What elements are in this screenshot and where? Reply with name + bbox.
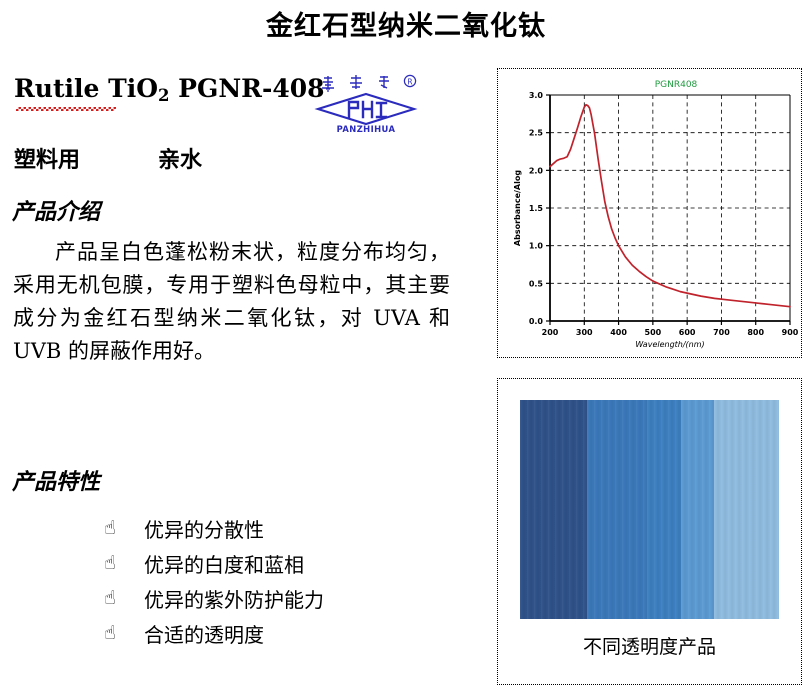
y-tick-label: 1.0 [529, 242, 544, 251]
y-tick-label: 1.5 [529, 204, 544, 213]
y-tick-label: 0.0 [529, 317, 544, 326]
feature-label: 合适的透明度 [144, 619, 264, 648]
product-intro-heading: 产品介绍 [12, 194, 100, 226]
y-tick-label: 2.5 [529, 129, 544, 138]
x-tick-label: 800 [747, 328, 764, 337]
product-code-row: Rutile TiO2 PGNR-408 [14, 74, 464, 136]
svg-text:R: R [407, 77, 412, 86]
x-tick-label: 300 [576, 328, 593, 337]
sample-band-2 [587, 400, 647, 619]
panzhihua-logo: R PANZHIHUA [314, 72, 422, 134]
diamond-emblem [318, 94, 414, 124]
spectrum-curve [550, 105, 790, 307]
sample-transparency-image [520, 400, 779, 619]
list-item: ☝ 合适的透明度 [104, 616, 464, 651]
list-item: ☝ 优异的分散性 [104, 511, 464, 546]
sample-band-3 [647, 400, 681, 619]
page-title: 金红石型纳米二氧化钛 [0, 4, 812, 43]
x-tick-label: 700 [713, 328, 730, 337]
pointing-hand-icon: ☝ [104, 589, 144, 608]
feature-label: 优异的紫外防护能力 [144, 584, 324, 613]
spectrum-chart: 2003004005006007008009000.00.51.01.52.02… [498, 69, 801, 357]
feature-label: 优异的分散性 [144, 514, 264, 543]
hydrophilicity-label: 亲水 [158, 142, 202, 174]
list-item: ☝ 优异的白度和蓝相 [104, 546, 464, 581]
product-code-prefix: Rutile TiO [14, 74, 158, 103]
pointing-hand-icon: ☝ [104, 554, 144, 573]
sample-band-5-lightest [714, 400, 779, 619]
pointing-hand-icon: ☝ [104, 519, 144, 538]
product-intro-paragraph: 产品呈白色蓬松粉末状，粒度分布均匀，采用无机包膜，专用于塑料色母粒中，其主要成分… [13, 236, 450, 368]
x-tick-label: 600 [679, 328, 696, 337]
sample-photo-caption: 不同透明度产品 [583, 632, 716, 659]
x-tick-label: 500 [645, 328, 662, 337]
x-tick-label: 900 [782, 328, 799, 337]
x-axis-label: Wavelength/(nm) [635, 340, 704, 349]
product-code-subscript: 2 [158, 86, 169, 105]
spectrum-chart-panel: 2003004005006007008009000.00.51.01.52.02… [497, 68, 802, 358]
pointing-hand-icon: ☝ [104, 624, 144, 643]
product-features-heading: 产品特性 [12, 464, 100, 496]
feature-label: 优异的白度和蓝相 [144, 549, 304, 578]
product-features-list: ☝ 优异的分散性 ☝ 优异的白度和蓝相 ☝ 优异的紫外防护能力 ☝ 合适的透明度 [104, 511, 464, 651]
left-content-column: Rutile TiO2 PGNR-408 [0, 64, 478, 693]
spellcheck-squiggle [16, 107, 116, 111]
y-axis-label: Absorbance/Alog [513, 170, 522, 246]
y-tick-label: 0.5 [529, 279, 544, 288]
sample-photo-panel: 不同透明度产品 [497, 378, 802, 685]
chart-title: PGNR408 [655, 80, 698, 90]
logo-wordmark: PANZHIHUA [337, 124, 396, 134]
registered-trademark-icon: R [404, 75, 415, 86]
sample-band-4 [681, 400, 715, 619]
product-code-heading: Rutile TiO2 PGNR-408 [14, 74, 325, 107]
list-item: ☝ 优异的紫外防护能力 [104, 581, 464, 616]
y-tick-label: 3.0 [529, 91, 544, 100]
sample-band-1-darkest [520, 400, 587, 619]
x-tick-label: 400 [610, 328, 627, 337]
x-tick-label: 200 [542, 328, 559, 337]
y-tick-label: 2.0 [529, 166, 544, 175]
product-code-suffix: PGNR-408 [169, 74, 324, 103]
application-label: 塑料用 [14, 142, 80, 174]
